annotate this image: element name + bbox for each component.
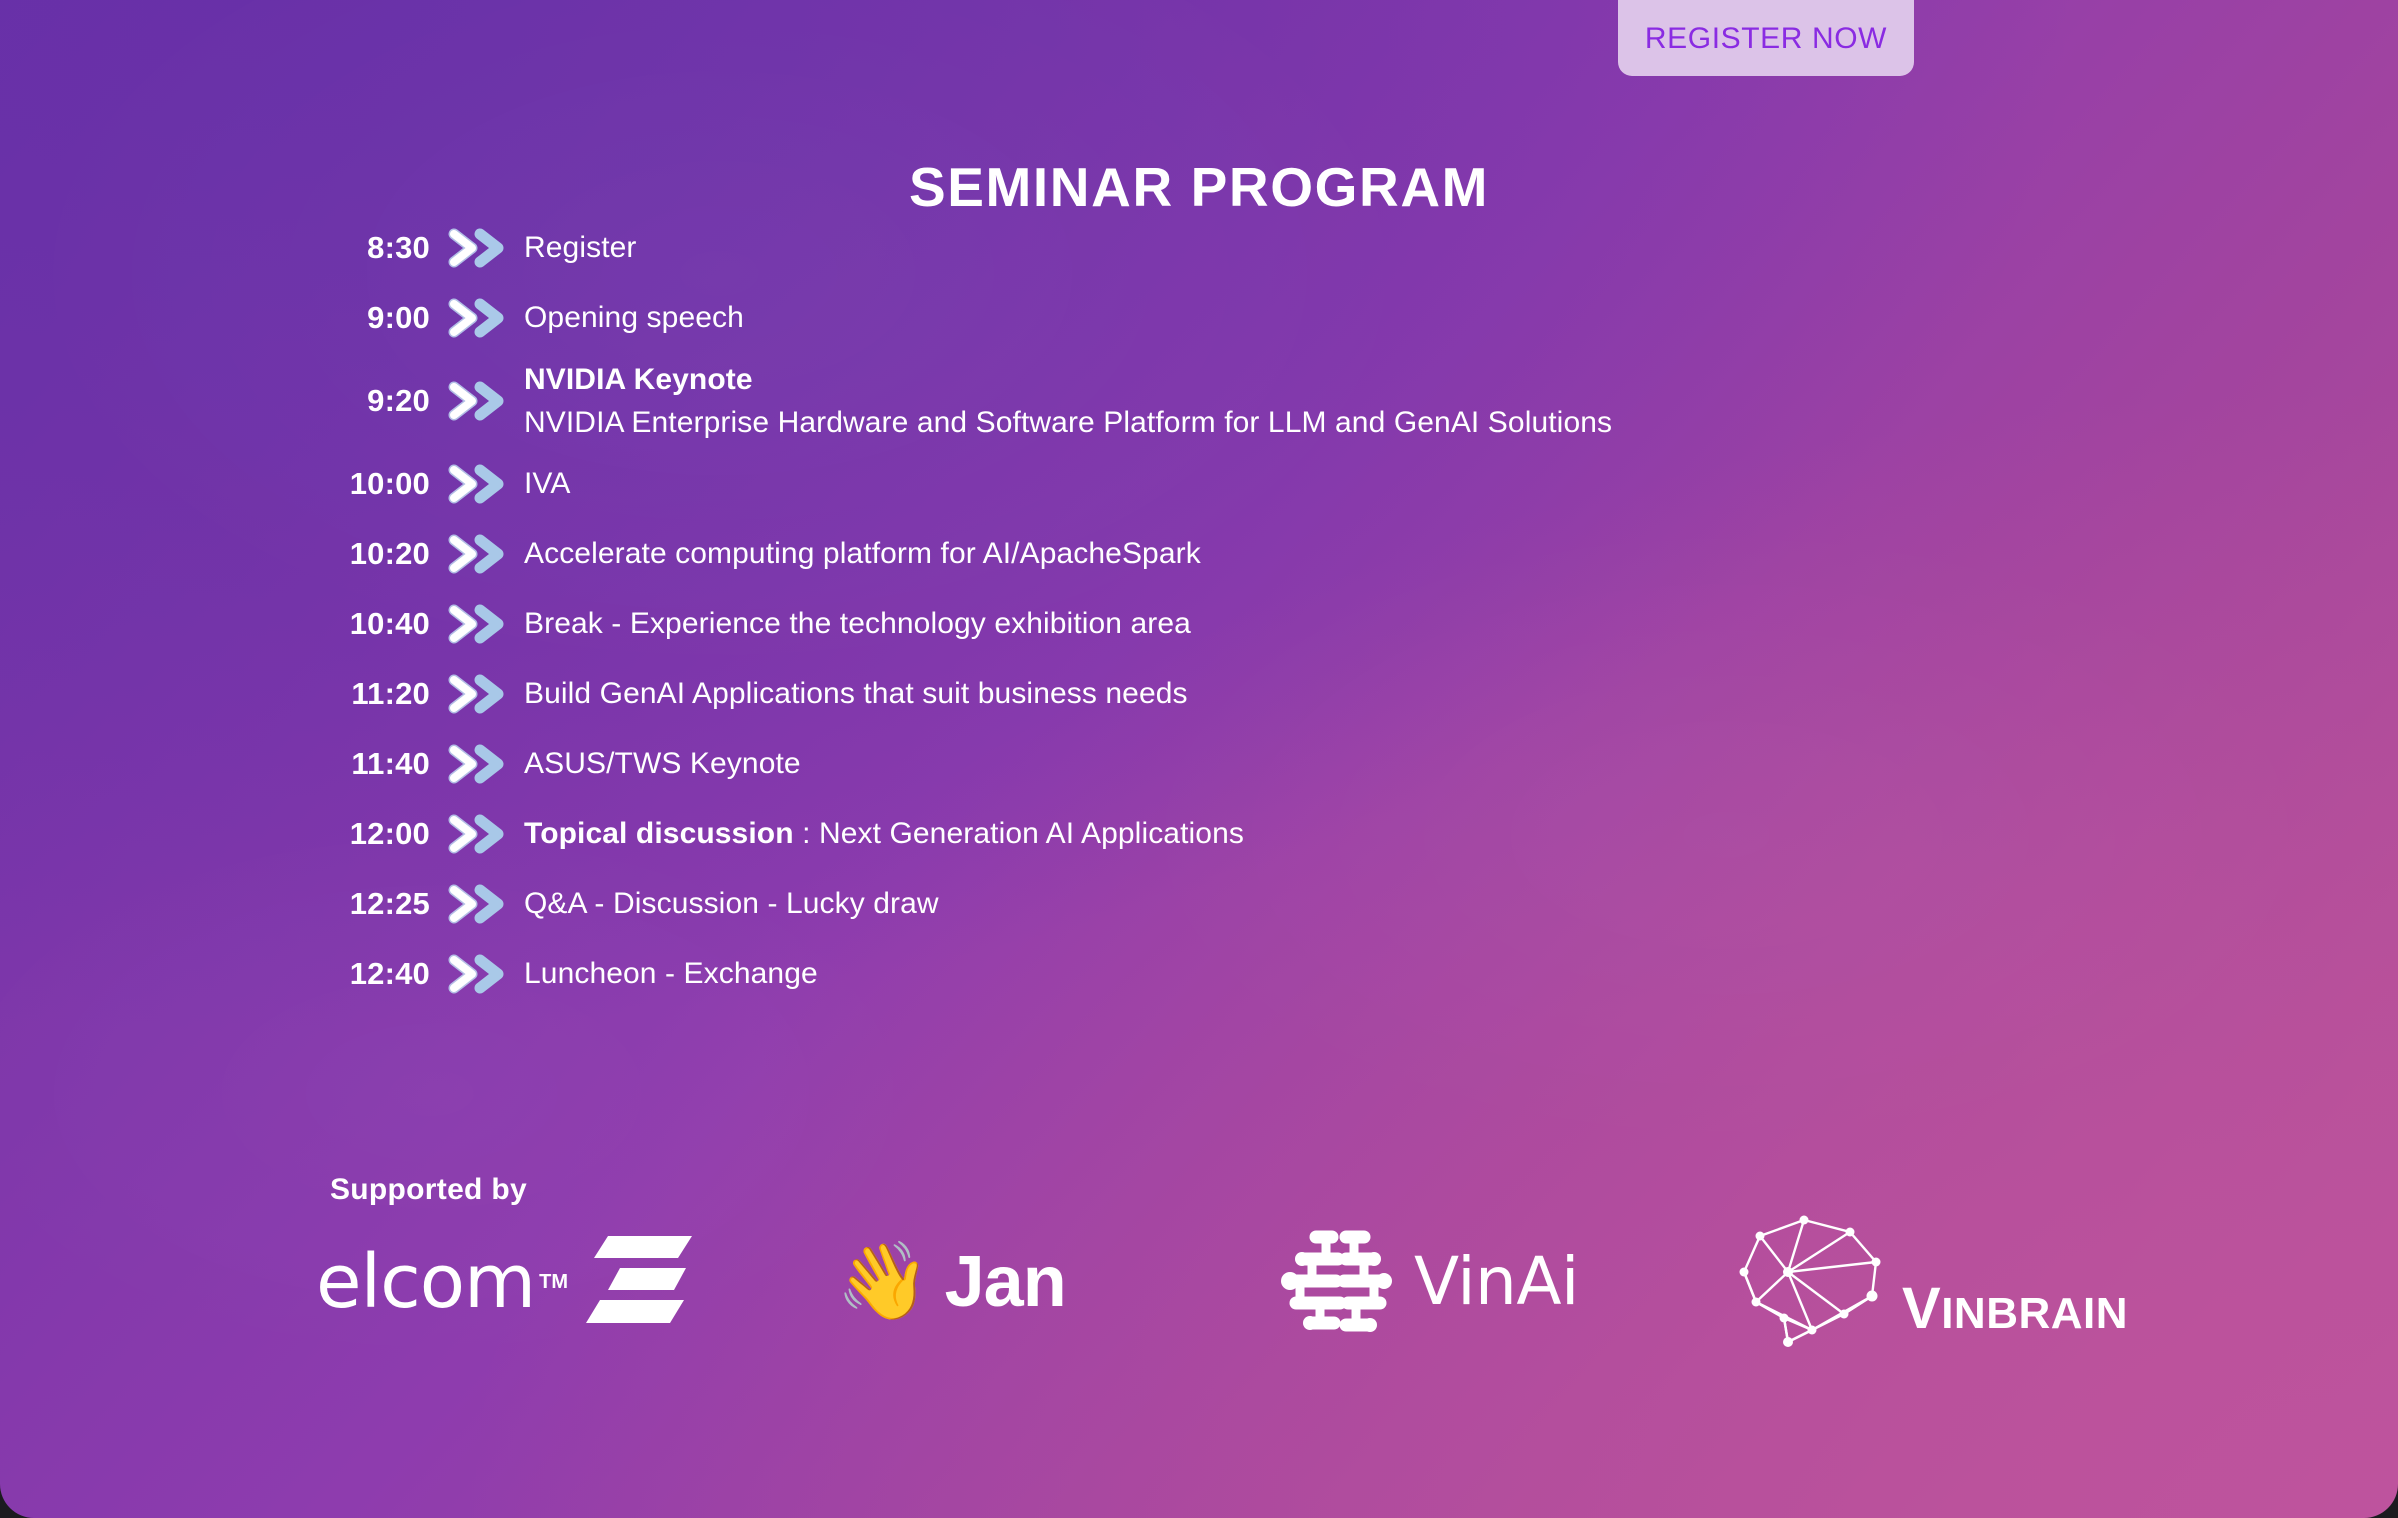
agenda-row-subtitle: NVIDIA Enterprise Hardware and Software … [524, 403, 1612, 443]
waving-hand-icon: 👋 [836, 1244, 931, 1320]
agenda-row: 12:25 Q&A - Discussion - Lucky draw [0, 869, 2398, 939]
agenda-row-text: NVIDIA KeynoteNVIDIA Enterprise Hardware… [524, 360, 1612, 442]
agenda-row: 11:40 ASUS/TWS Keynote [0, 729, 2398, 799]
vinai-circuit-mark-icon [1276, 1221, 1400, 1344]
agenda-row: 10:40 Break - Experience the technology … [0, 589, 2398, 659]
agenda-row-text: Accelerate computing platform for AI/Apa… [524, 534, 1201, 574]
vinbrain-wordmark-rest: INBRAIN [1941, 1289, 2128, 1338]
agenda-row-time: 10:20 [200, 536, 430, 572]
agenda-row: 11:20 Build GenAI Applications that suit… [0, 659, 2398, 729]
agenda-row-text: IVA [524, 464, 570, 504]
double-chevron-icon [430, 672, 524, 716]
seminar-program-slide: REGISTER NOW SEMINAR PROGRAM 8:30 Regist… [0, 0, 2398, 1518]
agenda-row-text: Break - Experience the technology exhibi… [524, 604, 1191, 644]
agenda-row-text: Topical discussion : Next Generation AI … [524, 814, 1244, 854]
agenda-row: 9:20 NVIDIA KeynoteNVIDIA Enterprise Har… [0, 353, 2398, 449]
agenda-row-text: Register [524, 228, 637, 268]
double-chevron-icon [430, 812, 524, 856]
double-chevron-icon [430, 226, 524, 270]
sponsor-logo-strip: elcom TM 👋 Jan [300, 1212, 2200, 1352]
agenda-row: 10:00 IVA [0, 449, 2398, 519]
agenda-row: 12:40 Luncheon - Exchange [0, 939, 2398, 1009]
elcom-wordmark: elcom [316, 1245, 535, 1319]
agenda-row-time: 11:40 [200, 746, 430, 782]
agenda-row-time: 8:30 [200, 230, 430, 266]
agenda-row: 10:20 Accelerate computing platform for … [0, 519, 2398, 589]
double-chevron-icon [430, 532, 524, 576]
agenda-row-title: NVIDIA Keynote [524, 360, 1612, 400]
elcom-e-mark-icon [586, 1234, 694, 1331]
sponsor-logo-vinai: VinAi [1276, 1212, 1726, 1352]
agenda-row-time: 12:00 [200, 816, 430, 852]
page-title: SEMINAR PROGRAM [0, 155, 2398, 219]
double-chevron-icon [430, 882, 524, 926]
double-chevron-icon [430, 379, 524, 423]
agenda-row-time: 12:40 [200, 956, 430, 992]
sponsor-logo-elcom: elcom TM [300, 1212, 836, 1352]
agenda-row-time: 10:40 [200, 606, 430, 642]
supported-by-label: Supported by [330, 1173, 527, 1207]
register-now-button[interactable]: REGISTER NOW [1618, 0, 1914, 76]
agenda-row-text-rest: : Next Generation AI Applications [794, 817, 1244, 850]
agenda-row: 12:00 Topical discussion : Next Generati… [0, 799, 2398, 869]
agenda-row-text: Opening speech [524, 298, 744, 338]
double-chevron-icon [430, 462, 524, 506]
agenda-row-bold-prefix: Topical discussion [524, 817, 794, 850]
agenda-row-text: ASUS/TWS Keynote [524, 744, 801, 784]
vinbrain-wordmark: VINBRAIN [1902, 1280, 2128, 1338]
jan-wordmark: Jan [945, 1246, 1066, 1318]
agenda-row-time: 10:00 [200, 466, 430, 502]
agenda-row-time: 12:25 [200, 886, 430, 922]
double-chevron-icon [430, 742, 524, 786]
agenda-row: 9:00 Opening speech [0, 283, 2398, 353]
double-chevron-icon [430, 602, 524, 646]
agenda-row-time: 9:00 [200, 300, 430, 336]
vinai-wordmark: VinAi [1414, 1249, 1579, 1315]
agenda-row: 8:30 Register [0, 213, 2398, 283]
elcom-trademark-icon: TM [539, 1271, 568, 1294]
double-chevron-icon [430, 952, 524, 996]
sponsor-logo-vinbrain: VINBRAIN [1726, 1212, 2186, 1352]
vinbrain-brain-network-icon [1726, 1210, 1916, 1355]
sponsor-logo-jan: 👋 Jan [836, 1212, 1276, 1352]
agenda-list: 8:30 Register9:00 Opening speech9:20 NVI… [0, 213, 2398, 1009]
agenda-row-text: Build GenAI Applications that suit busin… [524, 674, 1188, 714]
double-chevron-icon [430, 296, 524, 340]
agenda-row-time: 11:20 [200, 676, 430, 712]
vinbrain-wordmark-lead: V [1902, 1276, 1941, 1341]
agenda-row-text: Luncheon - Exchange [524, 954, 818, 994]
agenda-row-text: Q&A - Discussion - Lucky draw [524, 884, 939, 924]
agenda-row-time: 9:20 [200, 383, 430, 419]
